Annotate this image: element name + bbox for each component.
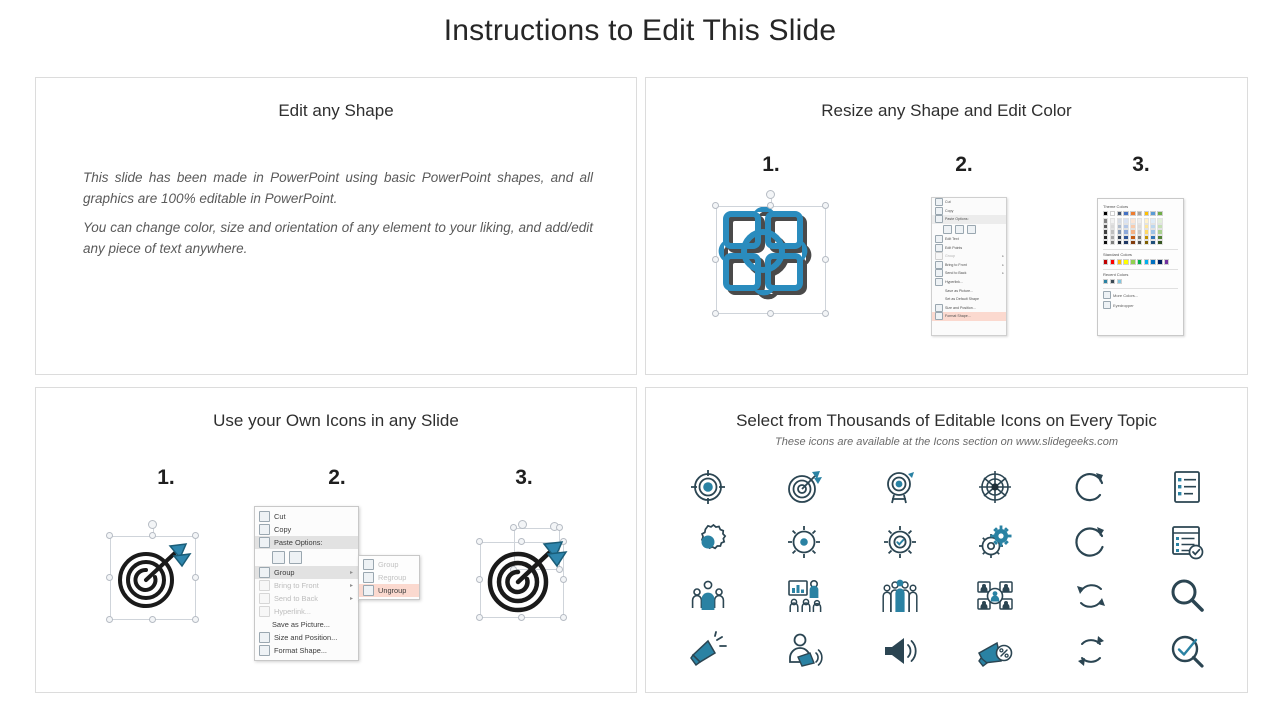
circular-sync-icon xyxy=(1071,631,1111,671)
panel-title: Use your Own Icons in any Slide xyxy=(36,411,636,431)
resize-handle-e[interactable] xyxy=(822,256,829,263)
icon-cell[interactable] xyxy=(1069,465,1113,509)
resize-handle-n[interactable] xyxy=(767,202,774,209)
group-icon xyxy=(363,559,374,570)
tint-column[interactable] xyxy=(1144,218,1149,245)
theme-swatch[interactable] xyxy=(1150,211,1155,216)
panel-edit-any-shape: Edit any Shape This slide has been made … xyxy=(35,77,637,375)
resize-handle-se[interactable] xyxy=(822,310,829,317)
hyperlink-icon xyxy=(935,278,943,286)
standard-swatch[interactable] xyxy=(1157,259,1162,264)
icon-cell[interactable] xyxy=(782,574,826,618)
mini-menu-item-edit-text[interactable]: Edit Text xyxy=(932,235,1006,244)
panel-title: Edit any Shape xyxy=(36,101,636,121)
mini-menu-item-set-default-shape[interactable]: Set as Default Shape xyxy=(932,295,1006,304)
menu-item-group[interactable]: Group ▸ xyxy=(255,566,358,579)
paste-keep-source-formatting-icon[interactable] xyxy=(272,551,285,564)
standard-colors-label: Standard Colors xyxy=(1103,252,1178,257)
recent-swatch[interactable] xyxy=(1117,279,1122,284)
icon-cell[interactable] xyxy=(878,465,922,509)
menu-item-label: Copy xyxy=(274,525,291,534)
icon-cell[interactable] xyxy=(973,465,1017,509)
standard-swatch[interactable] xyxy=(1164,259,1169,264)
tint-column[interactable] xyxy=(1157,218,1162,245)
format-shape-icon xyxy=(935,312,943,320)
icon-cell[interactable] xyxy=(782,629,826,673)
magnifier-check-icon xyxy=(1167,631,1207,671)
group-icon xyxy=(259,567,270,578)
mini-menu-item-group: Group ▸ xyxy=(932,252,1006,261)
mini-menu-label: Copy xyxy=(945,209,953,213)
menu-item-label: Group xyxy=(274,568,295,577)
theme-swatch[interactable] xyxy=(1130,211,1135,216)
theme-swatch[interactable] xyxy=(1144,211,1149,216)
icon-cell[interactable] xyxy=(878,520,922,564)
paste-icon xyxy=(259,537,270,548)
regroup-icon xyxy=(363,572,374,583)
theme-swatch[interactable] xyxy=(1110,211,1115,216)
tint-column[interactable] xyxy=(1110,218,1115,245)
mini-menu-item-hyperlink[interactable]: Hyperlink... xyxy=(932,278,1006,287)
context-menu-thumbnail[interactable]: Cut Copy Paste Options: Edit Text E xyxy=(931,197,1007,336)
target-crosshair-icon xyxy=(688,467,728,507)
mini-menu-label: Edit Points xyxy=(945,246,962,250)
resize-handle-sw[interactable] xyxy=(712,310,719,317)
document-check-icon xyxy=(1167,522,1207,562)
mini-menu-item-paste-options[interactable]: Paste Options: xyxy=(932,215,1006,224)
recent-colors-row[interactable] xyxy=(1103,279,1178,284)
icon-cell[interactable] xyxy=(1069,520,1113,564)
paste-picture-icon[interactable] xyxy=(955,225,964,234)
mini-menu-label: Size and Position... xyxy=(945,306,976,310)
color-picker-thumbnail[interactable]: Theme Colors xyxy=(1097,198,1184,336)
panel-title: Resize any Shape and Edit Color xyxy=(646,101,1247,121)
menu-item-format-shape[interactable]: Format Shape... xyxy=(255,644,358,657)
panel-editable-icons: Select from Thousands of Editable Icons … xyxy=(645,387,1248,693)
mini-menu-label: Cut xyxy=(945,200,951,204)
icon-cell[interactable] xyxy=(686,465,730,509)
gear-outline-icon xyxy=(784,522,824,562)
step-number-2: 2. xyxy=(944,153,984,177)
panel-title: Select from Thousands of Editable Icons … xyxy=(646,411,1247,431)
standard-swatch[interactable] xyxy=(1130,259,1135,264)
menu-item-size-and-position[interactable]: Size and Position... xyxy=(255,631,358,644)
menu-item-label: Format Shape... xyxy=(274,646,327,655)
paste-option-buttons[interactable] xyxy=(255,549,358,566)
menu-item-hyperlink: Hyperlink... xyxy=(255,605,358,618)
magnifier-icon xyxy=(1167,576,1207,616)
more-colors-item[interactable]: More Colors... xyxy=(1103,291,1178,299)
theme-colors-row[interactable] xyxy=(1103,211,1178,216)
size-position-icon xyxy=(935,304,943,312)
group-icon xyxy=(935,252,943,260)
send-back-icon xyxy=(935,269,943,277)
icon-cell[interactable] xyxy=(686,574,730,618)
mini-menu-item-cut[interactable]: Cut xyxy=(932,198,1006,207)
menu-item-label: Bring to Front xyxy=(274,581,319,590)
mini-menu-item-edit-points[interactable]: Edit Points xyxy=(932,243,1006,252)
mini-menu-item-copy[interactable]: Copy xyxy=(932,207,1006,216)
sync-arrows-icon xyxy=(1071,576,1111,616)
tint-column[interactable] xyxy=(1137,218,1142,245)
menu-item-label: Paste Options: xyxy=(274,538,322,547)
menu-item-label: Size and Position... xyxy=(274,633,337,642)
tint-column[interactable] xyxy=(1123,218,1128,245)
chevron-right-icon: ▸ xyxy=(1002,254,1004,258)
mini-menu-item-format-shape[interactable]: Format Shape... xyxy=(932,312,1006,321)
mini-menu-label: Bring to Front xyxy=(945,263,967,267)
resize-handle-s[interactable] xyxy=(767,310,774,317)
icon-cell[interactable] xyxy=(973,629,1017,673)
mini-menu-label: Format Shape... xyxy=(945,314,971,318)
icon-cell[interactable] xyxy=(1165,465,1209,509)
edit-shape-paragraph-1: This slide has been made in PowerPoint u… xyxy=(83,168,593,210)
gear-filled-icon xyxy=(688,522,728,562)
megaphone-percent-icon xyxy=(975,631,1015,671)
scissors-icon xyxy=(259,511,270,522)
double-gear-icon xyxy=(975,522,1015,562)
mini-menu-item-save-as-picture[interactable]: Save as Picture... xyxy=(932,286,1006,295)
selected-flower-shape-art[interactable] xyxy=(712,196,830,314)
standard-swatch[interactable] xyxy=(1123,259,1128,264)
context-menu[interactable]: Cut Copy Paste Options: Group ▸ Brin xyxy=(254,506,359,661)
eyedropper-item[interactable]: Eyedropper xyxy=(1103,301,1178,309)
standard-swatch[interactable] xyxy=(1110,259,1115,264)
tint-column[interactable] xyxy=(1117,218,1122,245)
panel-use-own-icons: Use your Own Icons in any Slide 1. 2. 3. xyxy=(35,387,637,693)
video-conference-icon xyxy=(975,576,1015,616)
menu-item-label: Cut xyxy=(274,512,286,521)
presentation-team-icon xyxy=(784,576,824,616)
mini-menu-item-send-to-back[interactable]: Send to Back ▸ xyxy=(932,269,1006,278)
mini-menu-label: Send to Back xyxy=(945,271,966,275)
step-number-3: 3. xyxy=(1121,153,1161,177)
menu-item-paste-options[interactable]: Paste Options: xyxy=(255,536,358,549)
people-group-icon xyxy=(880,576,920,616)
resize-handle-w[interactable] xyxy=(712,256,719,263)
theme-colors-label: Theme Colors xyxy=(1103,204,1178,209)
dartboard-arrow-icon xyxy=(784,467,824,507)
icon-cell[interactable] xyxy=(782,520,826,564)
mini-menu-label: Set as Default Shape xyxy=(945,297,979,301)
icon-cell[interactable] xyxy=(1165,574,1209,618)
theme-swatch[interactable] xyxy=(1137,211,1142,216)
mini-menu-label: Save as Picture... xyxy=(945,289,973,293)
person-megaphone-icon xyxy=(784,631,824,671)
menu-item-cut[interactable]: Cut xyxy=(255,510,358,523)
divider xyxy=(1103,269,1178,270)
panel-subtitle: These icons are available at the Icons s… xyxy=(646,436,1247,448)
standard-swatch[interactable] xyxy=(1144,259,1149,264)
icon-cell[interactable] xyxy=(1165,629,1209,673)
icon-grid xyxy=(660,460,1235,678)
page-title: Instructions to Edit This Slide xyxy=(0,14,1280,48)
format-shape-icon xyxy=(259,645,270,656)
send-back-icon xyxy=(259,593,270,604)
redo-arrow-icon xyxy=(1071,467,1111,507)
standard-colors-row[interactable] xyxy=(1103,259,1178,264)
standard-swatch[interactable] xyxy=(1150,259,1155,264)
eyedropper-icon xyxy=(1103,301,1111,309)
hyperlink-icon xyxy=(259,606,270,617)
theme-swatch[interactable] xyxy=(1117,211,1122,216)
scissors-icon xyxy=(935,198,943,206)
standard-swatch[interactable] xyxy=(1137,259,1142,264)
gear-check-icon xyxy=(880,522,920,562)
step-number-2: 2. xyxy=(317,466,357,490)
chevron-right-icon: ▸ xyxy=(1002,263,1004,267)
submenu-item-group[interactable]: Group xyxy=(359,558,419,571)
icon-cell[interactable] xyxy=(686,520,730,564)
mini-menu-label: Edit Text xyxy=(945,237,959,241)
menu-item-label: Hyperlink... xyxy=(274,607,311,616)
step-number-1: 1. xyxy=(751,153,791,177)
speaker-announce-icon xyxy=(880,631,920,671)
size-position-icon xyxy=(259,632,270,643)
copy-icon xyxy=(259,524,270,535)
tint-column[interactable] xyxy=(1130,218,1135,245)
icon-cell[interactable] xyxy=(1165,520,1209,564)
selected-target-icon-art[interactable] xyxy=(102,524,204,624)
submenu-item-ungroup[interactable]: Ungroup xyxy=(359,584,419,597)
dartboard-arrow-icon xyxy=(102,524,204,624)
mini-menu-label: Paste Options: xyxy=(945,217,969,221)
paste-keep-formatting-icon[interactable] xyxy=(943,225,952,234)
tint-column[interactable] xyxy=(1103,218,1108,245)
menu-item-label: Send to Back xyxy=(274,594,318,603)
menu-item-copy[interactable]: Copy xyxy=(255,523,358,536)
menu-item-bring-to-front: Bring to Front ▸ xyxy=(255,579,358,592)
theme-swatch[interactable] xyxy=(1103,211,1108,216)
menu-item-send-to-back: Send to Back ▸ xyxy=(255,592,358,605)
ungrouped-target-icon-art[interactable] xyxy=(474,520,586,624)
slide-canvas: Instructions to Edit This Slide Edit any… xyxy=(0,0,1280,720)
resize-handle-ne[interactable] xyxy=(822,202,829,209)
recent-swatch[interactable] xyxy=(1103,279,1108,284)
team-leader-icon xyxy=(688,576,728,616)
submenu-item-label: Ungroup xyxy=(378,586,406,595)
chevron-right-icon: ▸ xyxy=(350,582,353,589)
panel-resize-shape-edit-color: Resize any Shape and Edit Color 1. 2. 3. xyxy=(645,77,1248,375)
chevron-right-icon: ▸ xyxy=(350,595,353,602)
paste-picture-icon[interactable] xyxy=(289,551,302,564)
icon-cell[interactable] xyxy=(973,520,1017,564)
icon-cell[interactable] xyxy=(878,574,922,618)
divider xyxy=(1103,288,1178,289)
edit-shape-paragraph-2: You can change color, size and orientati… xyxy=(83,218,593,260)
step-number-3: 3. xyxy=(504,466,544,490)
mini-menu-label: Group xyxy=(945,254,955,258)
menu-item-save-as-picture[interactable]: Save as Picture... xyxy=(255,618,358,631)
mini-paste-option-buttons[interactable] xyxy=(932,224,1006,235)
icon-cell[interactable] xyxy=(973,574,1017,618)
mini-menu-label: Hyperlink... xyxy=(945,280,963,284)
edit-text-icon xyxy=(935,235,943,243)
paste-icon xyxy=(935,215,943,223)
paste-text-icon[interactable] xyxy=(967,225,976,234)
recent-colors-label: Recent Colors xyxy=(1103,272,1178,277)
theme-swatch[interactable] xyxy=(1123,211,1128,216)
menu-item-label: Save as Picture... xyxy=(272,620,330,629)
rotate-handle[interactable] xyxy=(766,190,775,199)
submenu-item-label: Group xyxy=(378,560,399,569)
mini-menu-item-bring-to-front[interactable]: Bring to Front ▸ xyxy=(932,261,1006,270)
dartboard-arrow-icon xyxy=(474,520,586,624)
standard-swatch[interactable] xyxy=(1103,259,1108,264)
chevron-right-icon: ▸ xyxy=(1002,271,1004,275)
ungroup-icon xyxy=(363,585,374,596)
recent-swatch[interactable] xyxy=(1110,279,1115,284)
step-number-1: 1. xyxy=(146,466,186,490)
icon-cell[interactable] xyxy=(1069,574,1113,618)
resize-handle-nw[interactable] xyxy=(712,202,719,209)
icon-cell[interactable] xyxy=(878,629,922,673)
crosshair-scope-icon xyxy=(975,467,1015,507)
more-colors-icon xyxy=(1103,291,1111,299)
checklist-document-icon xyxy=(1167,467,1207,507)
divider xyxy=(1103,249,1178,250)
copy-icon xyxy=(935,207,943,215)
standard-swatch[interactable] xyxy=(1117,259,1122,264)
mini-menu-item-size-and-position[interactable]: Size and Position... xyxy=(932,304,1006,313)
bring-front-icon xyxy=(259,580,270,591)
theme-swatch[interactable] xyxy=(1157,211,1162,216)
refresh-arrow-icon xyxy=(1071,522,1111,562)
tint-column[interactable] xyxy=(1150,218,1155,245)
eyedropper-label: Eyedropper xyxy=(1113,303,1134,308)
selection-frame xyxy=(716,206,826,314)
group-submenu[interactable]: Group Regroup Ungroup xyxy=(358,555,420,600)
submenu-item-regroup[interactable]: Regroup xyxy=(359,571,419,584)
chevron-right-icon: ▸ xyxy=(350,569,353,576)
more-colors-label: More Colors... xyxy=(1113,293,1138,298)
megaphone-icon xyxy=(688,631,728,671)
icon-cell[interactable] xyxy=(1069,629,1113,673)
submenu-item-label: Regroup xyxy=(378,573,406,582)
icon-cell[interactable] xyxy=(686,629,730,673)
icon-cell[interactable] xyxy=(782,465,826,509)
theme-tints-grid[interactable] xyxy=(1103,218,1178,245)
edit-points-icon xyxy=(935,244,943,252)
bring-front-icon xyxy=(935,261,943,269)
target-stand-icon xyxy=(880,467,920,507)
